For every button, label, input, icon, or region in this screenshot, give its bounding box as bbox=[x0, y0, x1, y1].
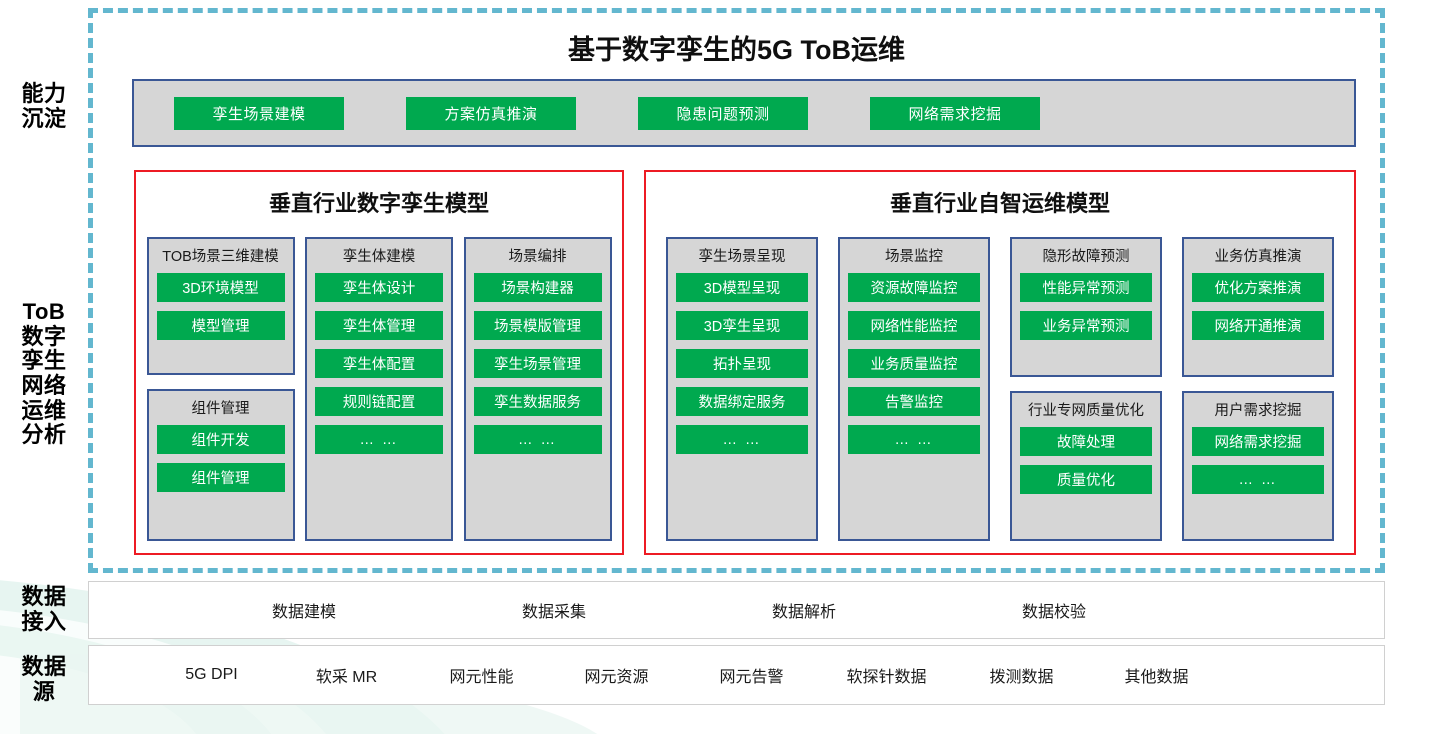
capability-panel: 用户需求挖掘网络需求挖掘… … bbox=[1182, 391, 1334, 541]
panel-item[interactable]: … … bbox=[315, 425, 443, 454]
panel-item[interactable]: 3D环境模型 bbox=[157, 273, 285, 302]
panel-item[interactable]: 故障处理 bbox=[1020, 427, 1152, 456]
panel-item[interactable]: 网络开通推演 bbox=[1192, 311, 1324, 340]
band-cell: 数据建模 bbox=[179, 598, 429, 622]
panel-item[interactable]: 业务异常预测 bbox=[1020, 311, 1152, 340]
panel-item[interactable]: … … bbox=[1192, 465, 1324, 494]
panel-title: 组件管理 bbox=[192, 397, 250, 418]
capability-panel: 孪生体建模孪生体设计孪生体管理孪生体配置规则链配置… … bbox=[305, 237, 453, 541]
capability-panel: TOB场景三维建模3D环境模型模型管理 bbox=[147, 237, 295, 375]
panel-item[interactable]: 3D孪生呈现 bbox=[676, 311, 808, 340]
capability-panel: 场景监控资源故障监控网络性能监控业务质量监控告警监控… … bbox=[838, 237, 990, 541]
rail-label-data-source: 数据源 bbox=[4, 655, 84, 704]
band-cell: 软探针数据 bbox=[819, 663, 954, 687]
panel-item[interactable]: 孪生体设计 bbox=[315, 273, 443, 302]
band-cell: 数据校验 bbox=[929, 598, 1179, 622]
data-access-band: 数据建模数据采集数据解析数据校验 bbox=[88, 581, 1385, 639]
panel-item[interactable]: … … bbox=[848, 425, 980, 454]
model-column: 场景监控资源故障监控网络性能监控业务质量监控告警监控… … bbox=[838, 237, 990, 549]
panel-item[interactable]: 优化方案推演 bbox=[1192, 273, 1324, 302]
band-cell: 网元告警 bbox=[684, 663, 819, 687]
panel-item[interactable]: 组件管理 bbox=[157, 463, 285, 492]
rail-label-capability: 能力沉淀 bbox=[4, 82, 84, 131]
capability-panel: 行业专网质量优化故障处理质量优化 bbox=[1010, 391, 1162, 541]
page-title: 基于数字孪生的5G ToB运维 bbox=[88, 28, 1385, 67]
band-cell: 数据采集 bbox=[429, 598, 679, 622]
capability-strip: 孪生场景建模方案仿真推演隐患问题预测网络需求挖掘 bbox=[132, 79, 1356, 147]
model-column: 孪生场景呈现3D模型呈现3D孪生呈现拓扑呈现数据绑定服务… … bbox=[666, 237, 818, 549]
panel-item[interactable]: 规则链配置 bbox=[315, 387, 443, 416]
panel-item[interactable]: 孪生数据服务 bbox=[474, 387, 602, 416]
model-column: 场景编排场景构建器场景模版管理孪生场景管理孪生数据服务… … bbox=[464, 237, 612, 549]
panel-item[interactable]: 孪生体配置 bbox=[315, 349, 443, 378]
panel-item[interactable]: 性能异常预测 bbox=[1020, 273, 1152, 302]
panel-item[interactable]: 告警监控 bbox=[848, 387, 980, 416]
panel-item[interactable]: 3D模型呈现 bbox=[676, 273, 808, 302]
model-columns: TOB场景三维建模3D环境模型模型管理组件管理组件开发组件管理孪生体建模孪生体设… bbox=[136, 237, 622, 549]
panel-title: 场景监控 bbox=[885, 245, 943, 266]
panel-item[interactable]: 网络需求挖掘 bbox=[1192, 427, 1324, 456]
panel-title: 孪生体建模 bbox=[343, 245, 416, 266]
rail-label-data-access: 数据接入 bbox=[4, 585, 84, 634]
capability-chip[interactable]: 孪生场景建模 bbox=[174, 97, 344, 130]
band-cell: 网元资源 bbox=[549, 663, 684, 687]
capability-panel: 孪生场景呈现3D模型呈现3D孪生呈现拓扑呈现数据绑定服务… … bbox=[666, 237, 818, 541]
capability-panel: 业务仿真推演优化方案推演网络开通推演 bbox=[1182, 237, 1334, 377]
panel-item[interactable]: 拓扑呈现 bbox=[676, 349, 808, 378]
capability-chip[interactable]: 网络需求挖掘 bbox=[870, 97, 1040, 130]
panel-item[interactable]: 孪生体管理 bbox=[315, 311, 443, 340]
model-column: 隐形故障预测性能异常预测业务异常预测行业专网质量优化故障处理质量优化 bbox=[1010, 237, 1162, 549]
capability-panel: 组件管理组件开发组件管理 bbox=[147, 389, 295, 541]
model-column: 业务仿真推演优化方案推演网络开通推演用户需求挖掘网络需求挖掘… … bbox=[1182, 237, 1334, 549]
band-cell: 数据解析 bbox=[679, 598, 929, 622]
panel-title: 业务仿真推演 bbox=[1215, 245, 1302, 266]
capability-panel: 场景编排场景构建器场景模版管理孪生场景管理孪生数据服务… … bbox=[464, 237, 612, 541]
model-box-digital-twin: 垂直行业数字孪生模型TOB场景三维建模3D环境模型模型管理组件管理组件开发组件管… bbox=[134, 170, 624, 555]
data-source-band: 5G DPI软采 MR网元性能网元资源网元告警软探针数据拨测数据其他数据 bbox=[88, 645, 1385, 705]
panel-title: 孪生场景呈现 bbox=[699, 245, 786, 266]
panel-item[interactable]: 场景模版管理 bbox=[474, 311, 602, 340]
panel-title: 隐形故障预测 bbox=[1043, 245, 1130, 266]
band-cell: 其他数据 bbox=[1089, 663, 1224, 687]
panel-item[interactable]: 质量优化 bbox=[1020, 465, 1152, 494]
band-cell: 网元性能 bbox=[414, 663, 549, 687]
panel-title: TOB场景三维建模 bbox=[162, 245, 279, 266]
panel-item[interactable]: … … bbox=[676, 425, 808, 454]
panel-item[interactable]: 场景构建器 bbox=[474, 273, 602, 302]
panel-item[interactable]: 资源故障监控 bbox=[848, 273, 980, 302]
capability-chip[interactable]: 隐患问题预测 bbox=[638, 97, 808, 130]
panel-item[interactable]: 模型管理 bbox=[157, 311, 285, 340]
band-cell: 软采 MR bbox=[279, 663, 414, 687]
panel-title: 场景编排 bbox=[509, 245, 567, 266]
model-column: 孪生体建模孪生体设计孪生体管理孪生体配置规则链配置… … bbox=[305, 237, 453, 549]
capability-panel: 隐形故障预测性能异常预测业务异常预测 bbox=[1010, 237, 1162, 377]
model-title: 垂直行业数字孪生模型 bbox=[136, 186, 622, 218]
panel-item[interactable]: 组件开发 bbox=[157, 425, 285, 454]
model-title: 垂直行业自智运维模型 bbox=[646, 186, 1354, 218]
model-columns: 孪生场景呈现3D模型呈现3D孪生呈现拓扑呈现数据绑定服务… …场景监控资源故障监… bbox=[646, 237, 1354, 549]
model-box-autonomous-ops: 垂直行业自智运维模型孪生场景呈现3D模型呈现3D孪生呈现拓扑呈现数据绑定服务… … bbox=[644, 170, 1356, 555]
panel-title: 行业专网质量优化 bbox=[1028, 399, 1144, 420]
panel-item[interactable]: 数据绑定服务 bbox=[676, 387, 808, 416]
band-cell: 拨测数据 bbox=[954, 663, 1089, 687]
panel-item[interactable]: 业务质量监控 bbox=[848, 349, 980, 378]
capability-chip[interactable]: 方案仿真推演 bbox=[406, 97, 576, 130]
panel-item[interactable]: 孪生场景管理 bbox=[474, 349, 602, 378]
panel-item[interactable]: … … bbox=[474, 425, 602, 454]
band-cell: 5G DPI bbox=[144, 666, 279, 684]
rail-label-tob: ToB数字孪生网络运维分析 bbox=[4, 300, 84, 448]
panel-item[interactable]: 网络性能监控 bbox=[848, 311, 980, 340]
panel-title: 用户需求挖掘 bbox=[1215, 399, 1302, 420]
model-column: TOB场景三维建模3D环境模型模型管理组件管理组件开发组件管理 bbox=[147, 237, 295, 549]
